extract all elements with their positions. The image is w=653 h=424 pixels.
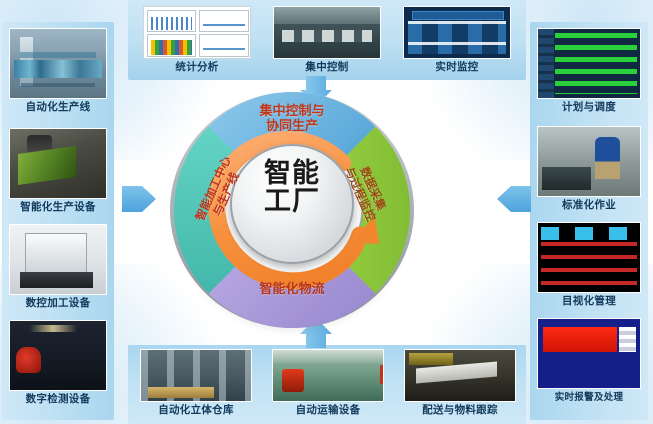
worker-standard-work-thumb	[537, 126, 641, 197]
agv-transport-thumb	[272, 349, 384, 402]
card-smart-equipment[interactable]: 智能化生产设备	[9, 128, 107, 216]
arrow-right-icon	[122, 186, 156, 212]
card-material-tracking[interactable]: 配送与物料跟踪	[404, 349, 516, 419]
andon-board-thumb	[537, 222, 641, 293]
segment-label-bottom: 智能化物流	[226, 282, 358, 297]
card-planning-scheduling[interactable]: 计划与调度	[537, 28, 641, 116]
gantt-schedule-thumb	[537, 28, 641, 99]
card-caption: 实时报警及处理	[537, 389, 641, 406]
production-line-thumb	[9, 28, 107, 99]
card-caption: 智能化生产设备	[9, 199, 107, 216]
card-production-line[interactable]: 自动化生产线	[9, 28, 107, 116]
card-caption: 数字检测设备	[9, 391, 107, 408]
inspection-cars-thumb	[9, 320, 107, 391]
arrow-left-icon	[497, 186, 531, 212]
segment-label-top: 集中控制与协同生产	[230, 104, 354, 135]
center-label-line1: 智能	[230, 160, 354, 188]
card-central-control[interactable]: 集中控制	[273, 6, 381, 76]
card-caption: 统计分析	[143, 59, 251, 76]
card-digital-inspection[interactable]: 数字检测设备	[9, 320, 107, 408]
card-automated-warehouse[interactable]: 自动化立体仓库	[140, 349, 252, 419]
card-caption: 集中控制	[273, 59, 381, 76]
diagram-canvas: 统计分析 集中控制 实时监控 自动化生产线 智能化生产设备 数控加工设备 数字检…	[0, 0, 653, 424]
card-caption: 自动化立体仓库	[140, 402, 252, 419]
card-caption: 自动化生产线	[9, 99, 107, 116]
statistics-chart-thumb	[143, 6, 251, 59]
control-room-thumb	[273, 6, 381, 59]
cnc-machine-thumb	[9, 224, 107, 295]
card-caption: 目视化管理	[537, 293, 641, 310]
card-realtime-alarm[interactable]: 实时报警及处理	[537, 318, 641, 406]
welding-robot-thumb	[9, 128, 107, 199]
card-caption: 计划与调度	[537, 99, 641, 116]
card-cnc-equipment[interactable]: 数控加工设备	[9, 224, 107, 312]
card-caption: 标准化作业	[537, 197, 641, 214]
center-label-line2: 工厂	[230, 188, 354, 216]
card-standard-work[interactable]: 标准化作业	[537, 126, 641, 214]
card-auto-transport[interactable]: 自动运输设备	[272, 349, 384, 419]
card-caption: 自动运输设备	[272, 402, 384, 419]
card-realtime-monitor[interactable]: 实时监控	[403, 6, 511, 76]
card-statistics[interactable]: 统计分析	[143, 6, 251, 76]
alarm-screen-thumb	[537, 318, 641, 389]
material-tracking-thumb	[404, 349, 516, 402]
center-label: 智能 工厂	[230, 160, 354, 217]
card-caption: 实时监控	[403, 59, 511, 76]
monitoring-screen-thumb	[403, 6, 511, 59]
smart-factory-donut: 智能 工厂 集中控制与协同生产 数据采集与过程监控 智能化物流 智能加工中心与生…	[168, 86, 416, 334]
card-caption: 数控加工设备	[9, 295, 107, 312]
card-caption: 配送与物料跟踪	[404, 402, 516, 419]
card-visual-management[interactable]: 目视化管理	[537, 222, 641, 310]
automated-warehouse-thumb	[140, 349, 252, 402]
